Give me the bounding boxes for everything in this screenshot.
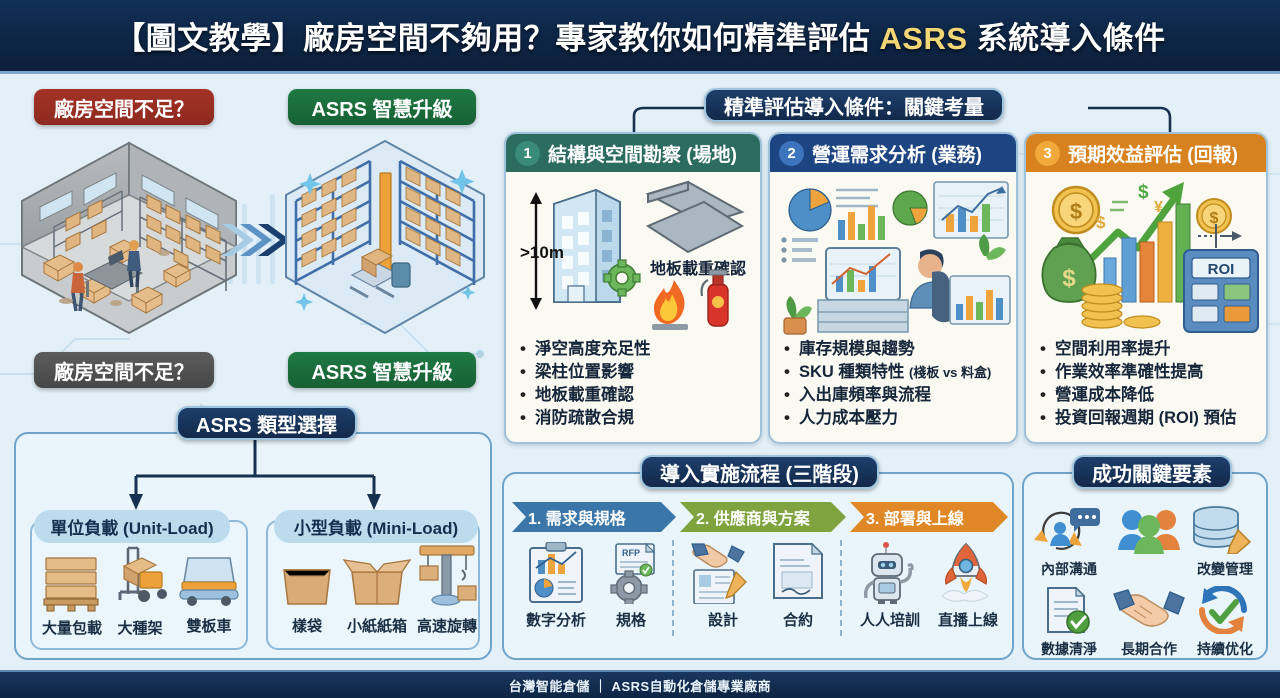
card-1-bullet-2: 地板載重確認: [520, 384, 754, 407]
process-stage-2-item-0-label: 人人培訓: [848, 609, 932, 630]
asrs-rack-illustration: [280, 135, 490, 340]
card-1-floor-label: 地板載重確認: [650, 259, 746, 278]
process-panel-title: 導入實施流程 (三階段): [640, 455, 879, 489]
gear-icon: RFP: [594, 542, 668, 604]
success-item-0-label: 內部溝通: [1030, 559, 1108, 579]
document-check-icon: [1030, 586, 1108, 634]
document-pencil-icon: [684, 542, 762, 604]
unit-load-item-2-label: 雙板車: [174, 615, 244, 636]
clipboard-chart-icon: [516, 542, 596, 604]
mini-load-item-2: 高速旋轉: [414, 540, 480, 636]
evaluation-banner: 精準評估導入條件：關鍵考量: [704, 88, 1004, 122]
rocket-icon: [928, 542, 1008, 604]
evaluation-card-2-header: 2 營運需求分析 (業務): [770, 134, 1016, 172]
process-stage-2-item-0: 人人培訓: [848, 542, 932, 630]
page-title-highlight: ASRS: [879, 21, 967, 56]
success-item-4-label: 長期合作: [1112, 639, 1186, 659]
svg-text:RFP: RFP: [622, 548, 640, 558]
process-stage-0-item-0-label: 數字分析: [516, 609, 596, 630]
process-divider-1: [672, 540, 674, 636]
success-item-5-label: 持續优化: [1186, 639, 1264, 659]
process-stage-1-item-0-label: 設計: [684, 609, 762, 630]
process-stage-0-item-0: 數字分析: [516, 542, 596, 630]
card-2-bullet-2: 入出庫頻率與流程: [784, 384, 1010, 407]
unit-load-item-1-label: 大種架: [106, 617, 174, 638]
tote-bin-icon: [274, 558, 340, 610]
evaluation-card-3-title: 預期效益評估 (回報): [1068, 140, 1238, 167]
evaluation-card-2: 2 營運需求分析 (業務): [768, 132, 1018, 444]
card-2-bullet-1-main: SKU 種類特性: [799, 363, 909, 381]
mini-load-item-2-label: 高速旋轉: [414, 615, 480, 636]
card-3-illustration: $ $ $ ¥ $: [1030, 176, 1266, 336]
unit-load-label: 單位負載 (Unit-Load): [34, 510, 230, 543]
page-title-suffix: 系統導入條件: [968, 21, 1166, 56]
database-pencil-icon: [1186, 504, 1264, 554]
evaluation-card-2-body: 庫存規模與趨勢 SKU 種類特性 (棧板 vs 料盒) 入出庫頻率與流程 人力成…: [770, 172, 1016, 442]
page-title-bar: 【圖文教學】廠房空間不夠用？專家教你如何精準評估 ASRS 系統導入條件: [0, 0, 1280, 74]
type-panel-title: ASRS 類型選擇: [176, 406, 357, 440]
card-2-illustration: [774, 176, 1014, 336]
evaluation-card-3: 3 預期效益評估 (回報) $ $ $ ¥ $: [1024, 132, 1268, 444]
svg-text:$: $: [1138, 182, 1149, 203]
contract-signature-icon: [760, 542, 836, 604]
infographic-page: 【圖文教學】廠房空間不夠用？專家教你如何精準評估 ASRS 系統導入條件: [0, 0, 1280, 698]
card-2-bullet-0: 庫存規模與趨勢: [784, 338, 1010, 361]
process-stage-1-item-0: 設計: [684, 542, 762, 630]
card-1-bullet-0: 淨空高度充足性: [520, 338, 754, 361]
evaluation-card-2-number: 2: [779, 141, 804, 166]
handshake-icon: [1112, 586, 1186, 634]
unit-load-item-0: 大量包載: [38, 550, 106, 638]
mini-load-label: 小型負載 (Mini-Load): [274, 510, 478, 543]
card-1-height-label: >10m: [520, 243, 564, 262]
pallet-stack-icon: [38, 550, 106, 612]
crane-icon: [414, 540, 480, 610]
process-stage-1-item-1-label: 合約: [760, 609, 836, 630]
card-2-bullet-1-note: (棧板 vs 料盒): [909, 365, 991, 380]
success-panel-title: 成功關鍵要素: [1072, 455, 1232, 489]
svg-text:$: $: [1062, 265, 1076, 292]
evaluation-card-2-bullets: 庫存規模與趨勢 SKU 種類特性 (棧板 vs 料盒) 入出庫頻率與流程 人力成…: [770, 338, 1016, 430]
unit-load-item-1: 大種架: [106, 544, 174, 638]
success-item-1: [1112, 504, 1186, 559]
evaluation-card-1: 1 結構與空間勘察 (場地): [504, 132, 762, 444]
process-stage-0-item-1: RFP 規格: [594, 542, 668, 630]
evaluation-card-1-number: 1: [515, 141, 540, 166]
evaluation-card-3-bullets: 空間利用率提升 作業效率準確性提高 營運成本降低 投資回報週期 (ROI) 預估: [1026, 338, 1266, 430]
success-item-0: 內部溝通: [1030, 504, 1108, 579]
mini-load-item-1: 小紙紙箱: [340, 552, 414, 636]
unit-load-item-2: 雙板車: [174, 552, 244, 636]
people-group-icon: [1112, 504, 1186, 554]
success-item-2-label: 改變管理: [1186, 559, 1264, 579]
tag-solution-bottom: ASRS 智慧升級: [288, 352, 476, 388]
mini-load-item-0-label: 樣袋: [274, 615, 340, 636]
forklift-icon: [106, 544, 174, 612]
process-stage-0-label: 1. 需求與規格: [512, 502, 676, 532]
card-3-bullet-1: 作業效率準確性提高: [1040, 361, 1260, 384]
success-item-4: 長期合作: [1112, 586, 1186, 659]
success-item-3: 數據清淨: [1030, 586, 1108, 659]
svg-text:$: $: [1096, 213, 1106, 232]
page-title-prefix: 【圖文教學】廠房空間不夠用？專家教你如何精準評估: [114, 21, 879, 56]
footer-text: 台灣智能倉儲 ｜ ASRS自動化倉儲專業廠商: [509, 676, 771, 695]
page-footer: 台灣智能倉儲 ｜ ASRS自動化倉儲專業廠商: [0, 670, 1280, 698]
process-stage-1-label: 2. 供應商與方案: [680, 502, 846, 532]
person-speech-cycle-icon: [1030, 504, 1108, 554]
evaluation-card-1-bullets: 淨空高度充足性 梁柱位置影響 地板載重確認 消防疏散合規: [506, 338, 760, 430]
svg-text:$: $: [1070, 199, 1082, 224]
evaluation-card-3-number: 3: [1035, 141, 1060, 166]
process-panel: 1. 需求與規格 2. 供應商與方案 3. 部署與上線 數字分析: [502, 472, 1014, 660]
process-stage-2-label: 3. 部署與上線: [850, 502, 1008, 532]
mini-load-item-0: 樣袋: [274, 558, 340, 636]
process-stage-2-item-1-label: 直播上線: [928, 609, 1008, 630]
card-3-roi-label: ROI: [1208, 261, 1235, 278]
success-item-2: 改變管理: [1186, 504, 1264, 579]
evaluation-card-1-title: 結構與空間勘察 (場地): [548, 140, 737, 167]
evaluation-card-3-body: $ $ $ ¥ $: [1026, 172, 1266, 442]
page-title: 【圖文教學】廠房空間不夠用？專家教你如何精準評估 ASRS 系統導入條件: [114, 13, 1165, 58]
card-1-bullet-1: 梁柱位置影響: [520, 361, 754, 384]
unit-load-item-0-label: 大量包載: [38, 617, 106, 638]
evaluation-card-1-body: >10m 地板載重確認: [506, 172, 760, 442]
tag-solution-top: ASRS 智慧升級: [288, 89, 476, 125]
svg-text:$: $: [1210, 210, 1219, 227]
card-1-bullet-3: 消防疏散合規: [520, 407, 754, 430]
success-item-3-label: 數據清淨: [1030, 639, 1108, 659]
process-divider-2: [840, 540, 842, 636]
success-item-5: 持續优化: [1186, 586, 1264, 659]
evaluation-card-2-title: 營運需求分析 (業務): [812, 140, 982, 167]
process-stage-0-item-1-label: 規格: [594, 609, 668, 630]
carton-box-icon: [340, 552, 414, 610]
process-stage-1-item-1: 合約: [760, 542, 836, 630]
card-2-bullet-3: 人力成本壓力: [784, 407, 1010, 430]
cluttered-warehouse-illustration: [14, 135, 244, 340]
card-3-bullet-3: 投資回報週期 (ROI) 預估: [1040, 407, 1260, 430]
tag-problem-top: 廠房空間不足？: [34, 89, 214, 125]
success-panel: 內部溝通: [1022, 472, 1268, 660]
card-3-bullet-0: 空間利用率提升: [1040, 338, 1260, 361]
robot-icon: [848, 542, 932, 604]
card-1-illustration: >10m 地板載重確認: [512, 176, 758, 336]
refresh-check-icon: [1186, 586, 1264, 634]
card-2-bullet-1: SKU 種類特性 (棧板 vs 料盒): [784, 361, 1010, 384]
tag-problem-bottom: 廠房空間不足？: [34, 352, 214, 388]
card-3-bullet-2: 營運成本降低: [1040, 384, 1260, 407]
process-stage-2-item-1: 直播上線: [928, 542, 1008, 630]
mini-load-item-1-label: 小紙紙箱: [340, 615, 414, 636]
shuttle-cart-icon: [174, 552, 244, 610]
asrs-type-panel: 單位負載 (Unit-Load) 大量包載: [14, 432, 492, 660]
evaluation-card-3-header: 3 預期效益評估 (回報): [1026, 134, 1266, 172]
evaluation-card-1-header: 1 結構與空間勘察 (場地): [506, 134, 760, 172]
